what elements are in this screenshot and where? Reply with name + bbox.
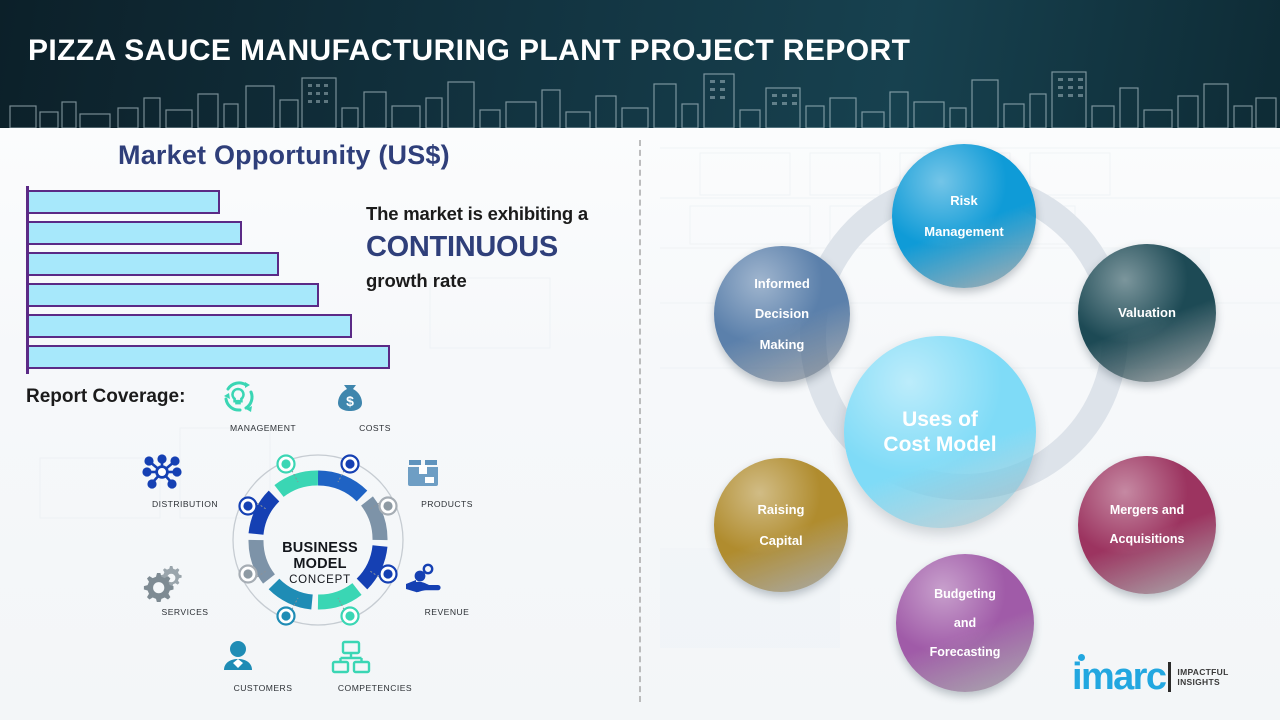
user-person-icon bbox=[218, 636, 308, 680]
business-model-diagram: BUSINESS MODEL CONCEPT MANAGEMENT bbox=[140, 368, 500, 704]
coverage-label: DISTRIBUTION bbox=[140, 499, 230, 509]
node-raising-capital[interactable]: Raising Capital bbox=[714, 458, 848, 592]
business-model-ring bbox=[140, 368, 500, 704]
lightbulb-recycle-icon bbox=[218, 376, 308, 420]
node-mergers-and-acquisitions[interactable]: Mergers and Acquisitions bbox=[1078, 456, 1216, 594]
callout-line-3: growth rate bbox=[366, 270, 636, 292]
logo-tagline-line-1: IMPACTFUL bbox=[1177, 667, 1228, 678]
coverage-label: MANAGEMENT bbox=[218, 423, 308, 433]
logo-separator bbox=[1168, 662, 1171, 692]
coverage-item-revenue: REVENUE bbox=[402, 560, 492, 617]
header-banner: PIZZA SAUCE MANUFACTURING PLANT PROJECT … bbox=[0, 0, 1280, 128]
bar-4 bbox=[27, 283, 319, 307]
coverage-item-customers: CUSTOMERS bbox=[218, 636, 308, 693]
slide-root: PIZZA SAUCE MANUFACTURING PLANT PROJECT … bbox=[0, 0, 1280, 720]
coverage-item-management: MANAGEMENT bbox=[218, 376, 308, 433]
coverage-label: PRODUCTS bbox=[402, 499, 492, 509]
node-valuation[interactable]: Valuation bbox=[1078, 244, 1216, 382]
center-node-line-2: Cost Model bbox=[883, 433, 996, 456]
growth-callout: The market is exhibiting a CONTINUOUS gr… bbox=[366, 203, 636, 292]
org-chart-icon bbox=[330, 636, 420, 680]
hand-coins-icon bbox=[402, 560, 492, 604]
logo-tagline-line-2: INSIGHTS bbox=[1177, 677, 1228, 688]
node-risk-management[interactable]: Risk Management bbox=[892, 144, 1036, 288]
page-title: PIZZA SAUCE MANUFACTURING PLANT PROJECT … bbox=[28, 34, 910, 68]
market-opportunity-title: Market Opportunity (US$) bbox=[118, 140, 450, 171]
node-label-line-2: and bbox=[924, 616, 1007, 631]
bar-5 bbox=[27, 314, 352, 338]
gears-icon bbox=[140, 560, 230, 604]
bar-6 bbox=[27, 345, 390, 369]
node-label-line-3: Forecasting bbox=[924, 645, 1007, 660]
logo-wordmark: imarc bbox=[1072, 662, 1165, 692]
coverage-label: CUSTOMERS bbox=[218, 683, 308, 693]
coverage-item-services: SERVICES bbox=[140, 560, 230, 617]
coverage-label: REVENUE bbox=[402, 607, 492, 617]
node-label-line-2: Decision bbox=[748, 306, 816, 321]
svg-text:$: $ bbox=[346, 393, 354, 409]
node-label-line-3: Making bbox=[748, 337, 816, 352]
bar-2 bbox=[27, 221, 242, 245]
node-label-line-1: Risk bbox=[918, 193, 1009, 208]
node-label-line-1: Raising bbox=[752, 502, 811, 517]
money-bag-icon: $ bbox=[330, 376, 420, 420]
logo-tagline: IMPACTFUL INSIGHTS bbox=[1177, 667, 1228, 688]
market-opportunity-bar-chart bbox=[20, 186, 420, 374]
node-label-line-2: Management bbox=[918, 224, 1009, 239]
coverage-label: SERVICES bbox=[140, 607, 230, 617]
coverage-item-competencies: COMPETENCIES bbox=[330, 636, 420, 693]
coverage-item-products: PRODUCTS bbox=[402, 452, 492, 509]
center-node-uses-of-cost-model: Uses of Cost Model bbox=[844, 336, 1036, 528]
center-node-line-1: Uses of bbox=[902, 408, 978, 431]
coverage-label: COMPETENCIES bbox=[330, 683, 420, 693]
node-label-line-1: Valuation bbox=[1112, 305, 1182, 320]
node-informed-decision-making[interactable]: Informed Decision Making bbox=[714, 246, 850, 382]
product-box-icon bbox=[402, 452, 492, 496]
network-nodes-icon bbox=[140, 452, 230, 496]
imarc-logo[interactable]: imarc IMPACTFUL INSIGHTS bbox=[1072, 662, 1229, 692]
node-label-line-2: Capital bbox=[752, 533, 811, 548]
bar-1 bbox=[27, 190, 220, 214]
callout-line-1: The market is exhibiting a bbox=[366, 203, 636, 225]
coverage-label: COSTS bbox=[330, 423, 420, 433]
callout-emphasis: CONTINUOUS bbox=[366, 231, 636, 264]
coverage-item-costs: $ COSTS bbox=[330, 376, 420, 433]
node-budgeting-and-forecasting[interactable]: Budgeting and Forecasting bbox=[896, 554, 1034, 692]
uses-of-cost-model-diagram: Uses of Cost Model Risk Management Valua… bbox=[640, 128, 1280, 720]
node-label-line-2: Acquisitions bbox=[1103, 532, 1190, 547]
city-skyline-icon bbox=[0, 68, 1280, 128]
coverage-item-distribution: DISTRIBUTION bbox=[140, 452, 230, 509]
node-label-line-1: Mergers and bbox=[1103, 503, 1190, 518]
node-label-line-1: Budgeting bbox=[924, 587, 1007, 602]
node-label-line-1: Informed bbox=[748, 276, 816, 291]
bar-3 bbox=[27, 252, 279, 276]
